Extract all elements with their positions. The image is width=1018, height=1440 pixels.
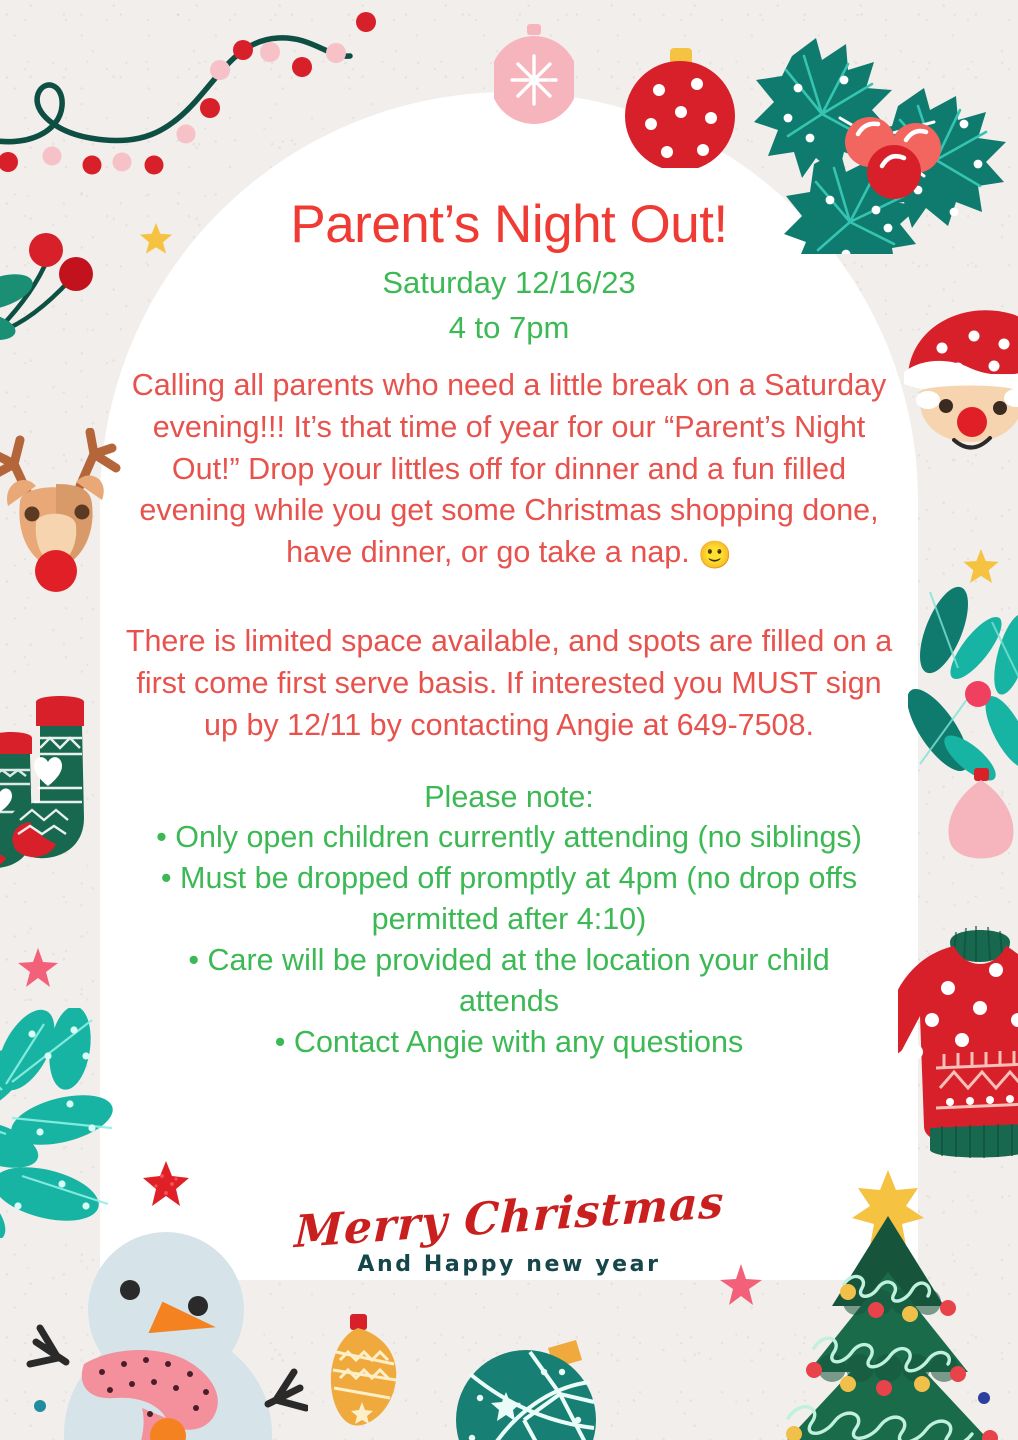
santa-face-icon xyxy=(900,296,1018,476)
event-time: 4 to 7pm xyxy=(108,306,910,351)
signup-paragraph: There is limited space available, and sp… xyxy=(122,621,896,746)
pink-ornament-icon xyxy=(494,22,574,132)
red-dotted-ornament-icon xyxy=(615,28,745,168)
garland-swirl-dots-icon xyxy=(0,10,390,200)
gold-teardrop-ornament-icon xyxy=(306,1308,416,1440)
notes-heading: Please note: xyxy=(108,777,910,818)
intro-paragraph: Calling all parents who need a little br… xyxy=(126,365,892,574)
note-item: • Only open children currently attending… xyxy=(136,817,882,858)
page-title: Parent’s Night Out! xyxy=(108,196,910,253)
ugly-christmas-sweater-icon xyxy=(898,912,1018,1172)
pink-star-icon xyxy=(16,946,60,990)
note-item: • Must be dropped off promptly at 4pm (n… xyxy=(136,858,882,940)
christmas-tree-icon xyxy=(776,1166,1018,1440)
note-item: • Care will be provided at the location … xyxy=(136,940,882,1022)
event-date: Saturday 12/16/23 xyxy=(108,261,910,306)
note-item: • Contact Angie with any questions xyxy=(136,1022,882,1063)
knit-stockings-icon xyxy=(0,690,142,920)
intro-paragraph-text: Calling all parents who need a little br… xyxy=(132,368,887,569)
snowman-icon xyxy=(18,1218,308,1440)
pink-bauble-icon xyxy=(938,766,1018,874)
flyer-text-content: Parent’s Night Out! Saturday 12/16/23 4 … xyxy=(108,196,910,1063)
teal-ball-ornament-icon xyxy=(452,1328,612,1440)
smiley-face-icon: 🙂 xyxy=(698,540,732,570)
flyer-poster: Parent’s Night Out! Saturday 12/16/23 4 … xyxy=(0,0,1018,1440)
reindeer-head-icon xyxy=(0,428,134,608)
